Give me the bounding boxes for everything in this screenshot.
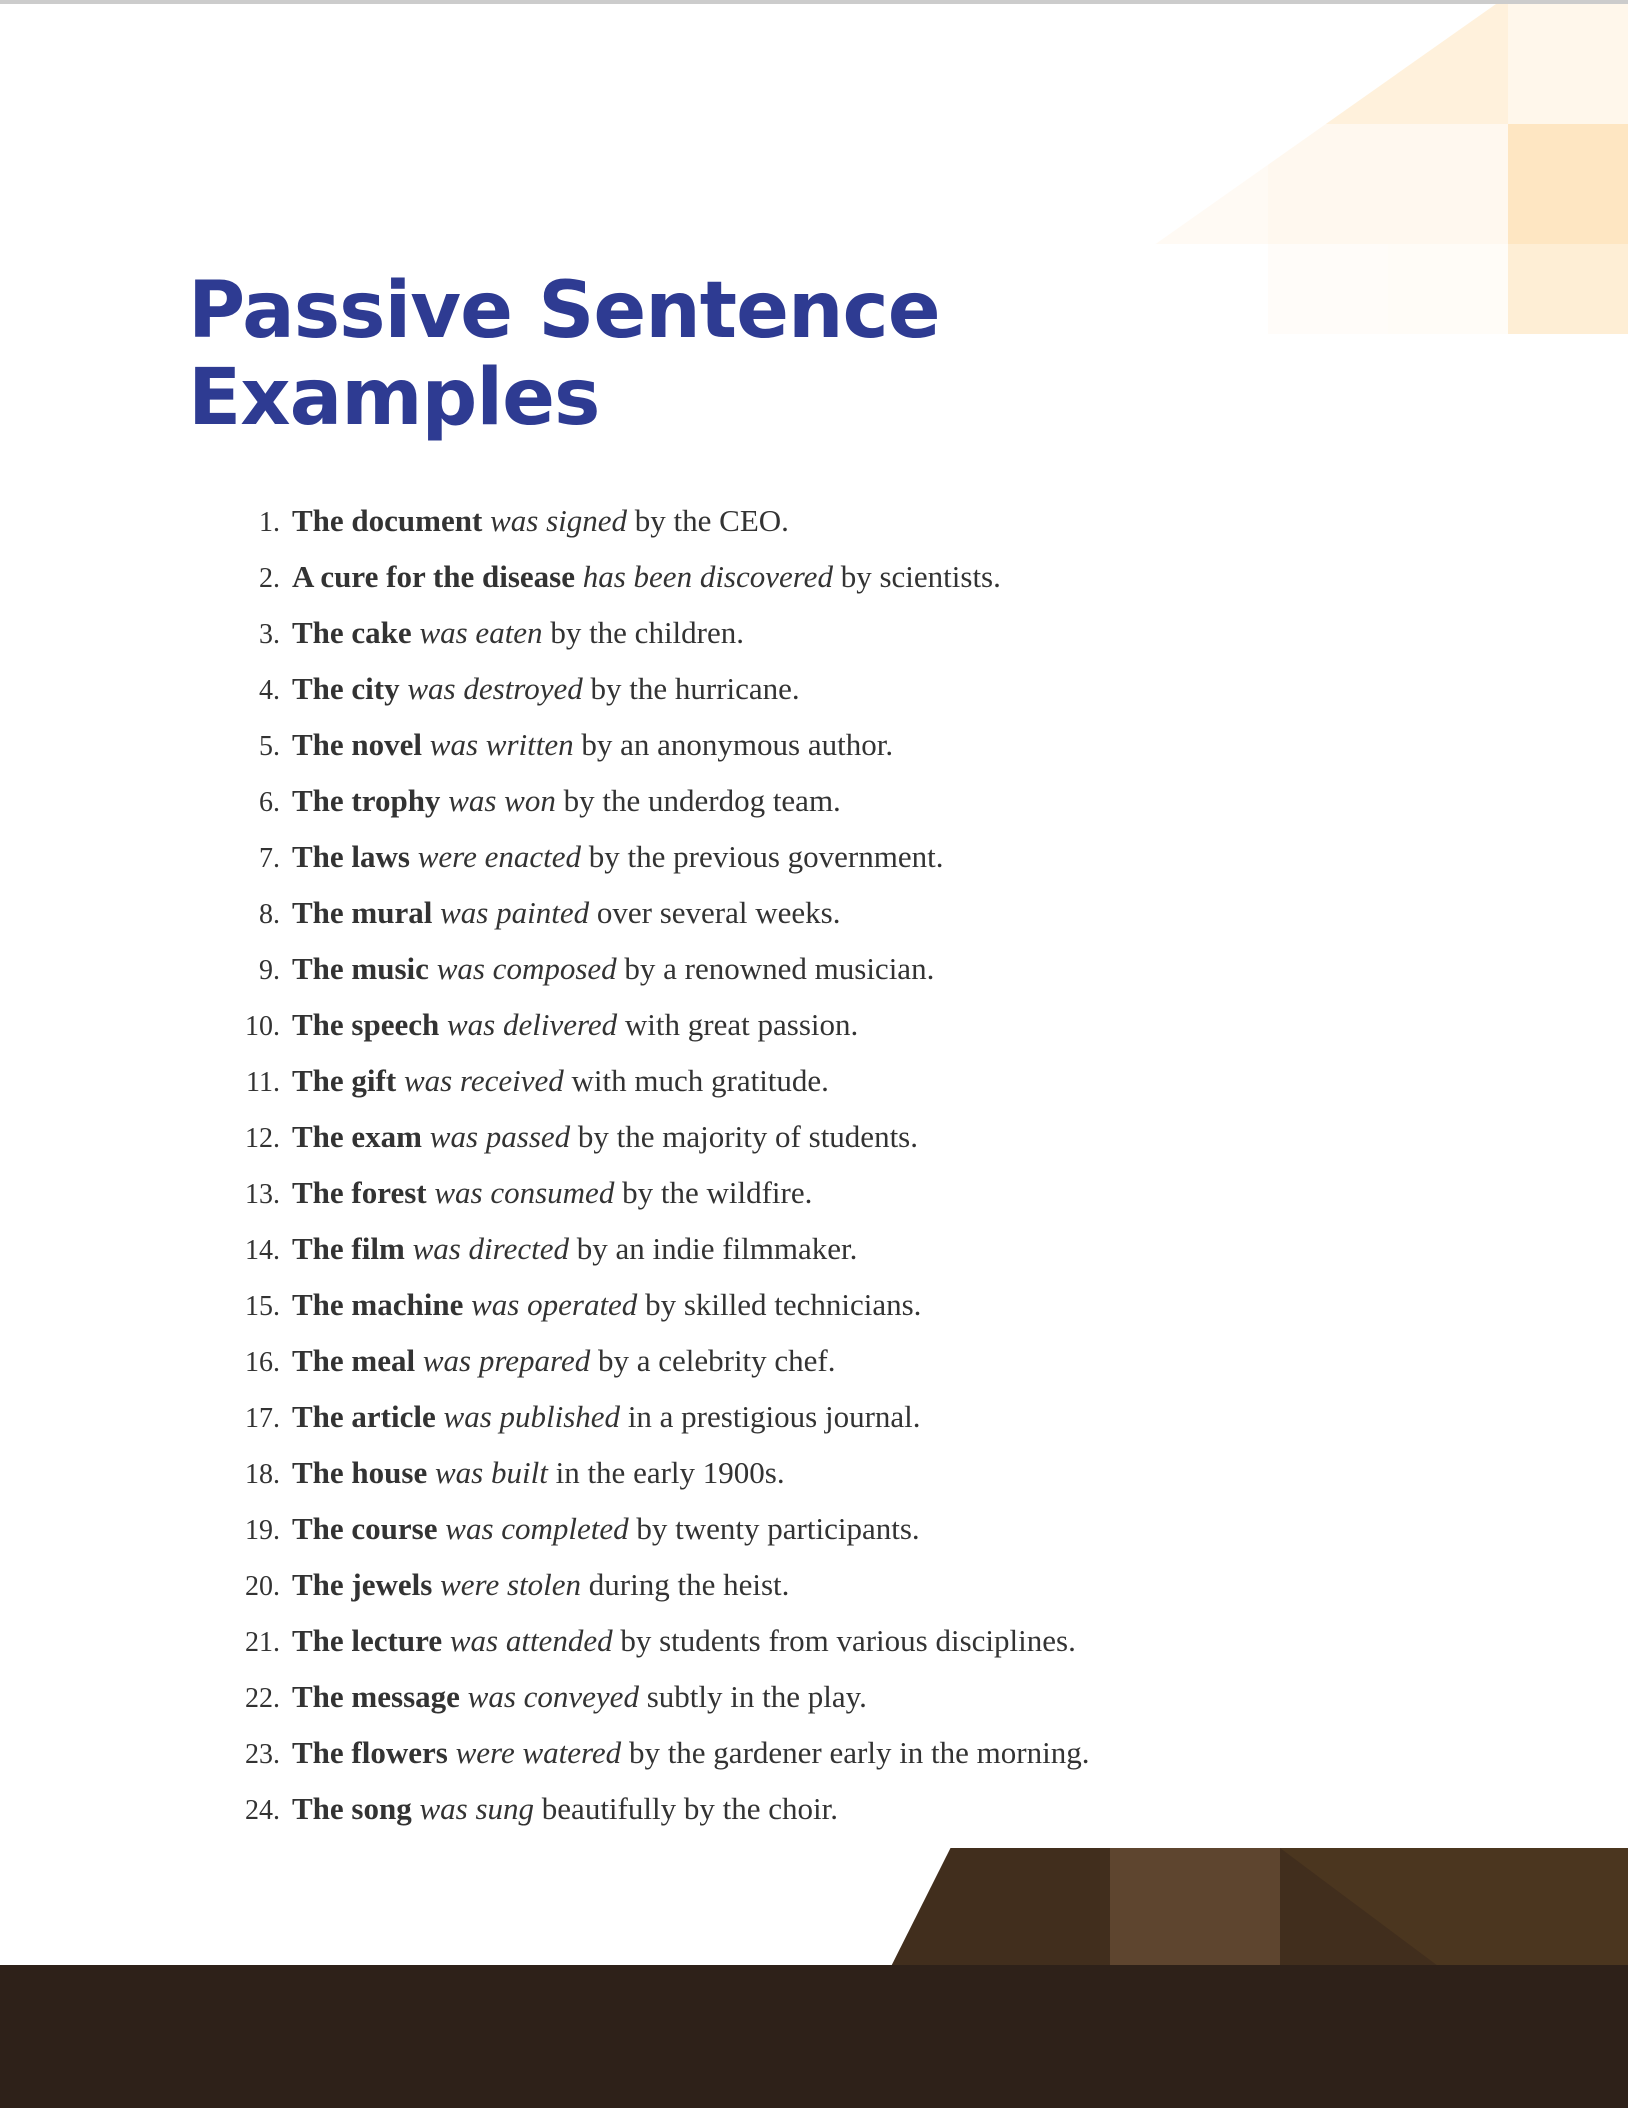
sentence-subject: The novel — [292, 727, 422, 762]
sentence-subject: The mural — [292, 895, 432, 930]
sentence-subject: The gift — [292, 1063, 396, 1098]
peach-decoration-cell — [1388, 4, 1508, 124]
sentence-verb-phrase: was painted — [440, 895, 589, 930]
sentence-verb-phrase: was received — [404, 1063, 564, 1098]
list-item-number: 8. — [228, 888, 280, 942]
sentence-subject: The film — [292, 1231, 405, 1266]
list-item-number: 12. — [228, 1112, 280, 1166]
list-item: 3.The cake was eaten by the children. — [228, 606, 1488, 662]
sentence-remainder: by the underdog team. — [564, 783, 841, 818]
list-item-sentence: The cake was eaten by the children. — [292, 606, 744, 660]
sentence-verb-phrase: was composed — [437, 951, 617, 986]
list-item-sentence: The forest was consumed by the wildfire. — [292, 1166, 812, 1220]
list-item-number: 5. — [228, 720, 280, 774]
sentence-verb-phrase: was delivered — [447, 1007, 617, 1042]
list-item: 21.The lecture was attended by students … — [228, 1614, 1488, 1670]
sentence-remainder: subtly in the play. — [647, 1679, 867, 1714]
peach-decoration-cell — [1028, 124, 1148, 244]
list-item: 14.The film was directed by an indie fil… — [228, 1222, 1488, 1278]
sentence-remainder: by skilled technicians. — [645, 1287, 921, 1322]
list-item-sentence: The city was destroyed by the hurricane. — [292, 662, 800, 716]
sentence-verb-phrase: was conveyed — [468, 1679, 639, 1714]
list-item-number: 21. — [228, 1616, 280, 1670]
list-item: 15.The machine was operated by skilled t… — [228, 1278, 1488, 1334]
list-item: 16.The meal was prepared by a celebrity … — [228, 1334, 1488, 1390]
sentence-remainder: by the hurricane. — [590, 671, 799, 706]
list-item: 1.The document was signed by the CEO. — [228, 494, 1488, 550]
passive-sentence-list: 1.The document was signed by the CEO.2.A… — [228, 494, 1488, 1838]
sentence-verb-phrase: has been discovered — [583, 559, 833, 594]
peach-decoration-cell — [1508, 244, 1628, 364]
sentence-verb-phrase: was attended — [450, 1623, 613, 1658]
list-item: 23.The flowers were watered by the garde… — [228, 1726, 1488, 1782]
sentence-subject: The course — [292, 1511, 438, 1546]
document-page: Passive Sentence Examples 1.The document… — [0, 0, 1628, 2108]
sentence-subject: The trophy — [292, 783, 440, 818]
sentence-verb-phrase: was signed — [490, 503, 627, 538]
list-item-number: 23. — [228, 1728, 280, 1782]
list-item-number: 3. — [228, 608, 280, 662]
list-item-sentence: The song was sung beautifully by the cho… — [292, 1782, 838, 1836]
sentence-subject: The article — [292, 1399, 436, 1434]
sentence-verb-phrase: were enacted — [418, 839, 581, 874]
list-item-number: 18. — [228, 1448, 280, 1502]
list-item: 9.The music was composed by a renowned m… — [228, 942, 1488, 998]
list-item-number: 1. — [228, 496, 280, 550]
list-item-sentence: The meal was prepared by a celebrity che… — [292, 1334, 836, 1388]
sentence-subject: The meal — [292, 1343, 415, 1378]
list-item: 13.The forest was consumed by the wildfi… — [228, 1166, 1488, 1222]
list-item-number: 6. — [228, 776, 280, 830]
peach-decoration-cell — [1388, 124, 1508, 244]
list-item-sentence: The laws were enacted by the previous go… — [292, 830, 943, 884]
sentence-subject: The song — [292, 1791, 412, 1826]
list-item: 6.The trophy was won by the underdog tea… — [228, 774, 1488, 830]
peach-decoration-cell — [1268, 4, 1388, 124]
list-item: 5.The novel was written by an anonymous … — [228, 718, 1488, 774]
sentence-verb-phrase: was consumed — [434, 1175, 614, 1210]
list-item-sentence: The message was conveyed subtly in the p… — [292, 1670, 867, 1724]
list-item-number: 7. — [228, 832, 280, 886]
list-item-sentence: The machine was operated by skilled tech… — [292, 1278, 921, 1332]
list-item-number: 4. — [228, 664, 280, 718]
sentence-subject: The document — [292, 503, 482, 538]
sentence-verb-phrase: was written — [430, 727, 574, 762]
list-item-sentence: The exam was passed by the majority of s… — [292, 1110, 918, 1164]
list-item: 19.The course was completed by twenty pa… — [228, 1502, 1488, 1558]
list-item-number: 16. — [228, 1336, 280, 1390]
list-item-number: 14. — [228, 1224, 280, 1278]
sentence-remainder: by a celebrity chef. — [598, 1343, 836, 1378]
peach-decoration-cell — [1268, 244, 1388, 364]
sentence-subject: The laws — [292, 839, 410, 874]
sentence-remainder: by twenty participants. — [636, 1511, 919, 1546]
peach-decoration-cell — [1508, 4, 1628, 124]
list-item-sentence: The film was directed by an indie filmma… — [292, 1222, 857, 1276]
list-item-number: 19. — [228, 1504, 280, 1558]
sentence-verb-phrase: was destroyed — [407, 671, 582, 706]
sentence-remainder: by an indie filmmaker. — [577, 1231, 858, 1266]
sentence-remainder: by the CEO. — [635, 503, 789, 538]
sentence-subject: The speech — [292, 1007, 439, 1042]
list-item: 10.The speech was delivered with great p… — [228, 998, 1488, 1054]
list-item: 18.The house was built in the early 1900… — [228, 1446, 1488, 1502]
sentence-subject: A cure for the disease — [292, 559, 575, 594]
list-item-sentence: The article was published in a prestigio… — [292, 1390, 921, 1444]
sentence-verb-phrase: was won — [448, 783, 556, 818]
list-item-sentence: The course was completed by twenty parti… — [292, 1502, 920, 1556]
sentence-remainder: by the previous government. — [589, 839, 944, 874]
sentence-verb-phrase: was prepared — [423, 1343, 590, 1378]
peach-decoration-cell — [1148, 124, 1268, 244]
list-item-sentence: The novel was written by an anonymous au… — [292, 718, 893, 772]
list-item-sentence: The trophy was won by the underdog team. — [292, 774, 841, 828]
sentence-remainder: in the early 1900s. — [556, 1455, 785, 1490]
sentence-verb-phrase: was sung — [419, 1791, 534, 1826]
peach-decoration-cell — [1508, 124, 1628, 244]
list-item-number: 13. — [228, 1168, 280, 1222]
peach-decoration-cell — [1028, 4, 1148, 124]
list-item: 17.The article was published in a presti… — [228, 1390, 1488, 1446]
list-item: 24.The song was sung beautifully by the … — [228, 1782, 1488, 1838]
sentence-verb-phrase: was eaten — [419, 615, 542, 650]
sentence-subject: The jewels — [292, 1567, 432, 1602]
sentence-verb-phrase: was operated — [471, 1287, 637, 1322]
sentence-subject: The machine — [292, 1287, 463, 1322]
list-item-sentence: The music was composed by a renowned mus… — [292, 942, 934, 996]
list-item-number: 9. — [228, 944, 280, 998]
sentence-verb-phrase: was completed — [445, 1511, 628, 1546]
list-item-sentence: The speech was delivered with great pass… — [292, 998, 858, 1052]
sentence-verb-phrase: was built — [435, 1455, 548, 1490]
sentence-verb-phrase: was published — [444, 1399, 621, 1434]
list-item-number: 10. — [228, 1000, 280, 1054]
list-item-sentence: The jewels were stolen during the heist. — [292, 1558, 789, 1612]
sentence-subject: The city — [292, 671, 400, 706]
sentence-remainder: in a prestigious journal. — [628, 1399, 921, 1434]
sentence-remainder: with great passion. — [625, 1007, 858, 1042]
list-item: 12.The exam was passed by the majority o… — [228, 1110, 1488, 1166]
list-item: 2.A cure for the disease has been discov… — [228, 550, 1488, 606]
list-item-number: 24. — [228, 1784, 280, 1838]
sentence-subject: The flowers — [292, 1735, 448, 1770]
list-item-sentence: The gift was received with much gratitud… — [292, 1054, 829, 1108]
sentence-subject: The music — [292, 951, 429, 986]
sentence-remainder: by students from various disciplines. — [620, 1623, 1075, 1658]
list-item-number: 22. — [228, 1672, 280, 1726]
peach-decoration-cell — [1148, 4, 1268, 124]
list-item-number: 17. — [228, 1392, 280, 1446]
list-item-sentence: The flowers were watered by the gardener… — [292, 1726, 1089, 1780]
brown-corner-decoration — [0, 1848, 1628, 2108]
sentence-remainder: over several weeks. — [597, 895, 841, 930]
sentence-verb-phrase: was passed — [430, 1119, 570, 1154]
sentence-subject: The message — [292, 1679, 460, 1714]
sentence-verb-phrase: were stolen — [440, 1567, 581, 1602]
sentence-remainder: by the children. — [550, 615, 744, 650]
peach-decoration-cell — [1388, 244, 1508, 364]
sentence-remainder: by the majority of students. — [578, 1119, 918, 1154]
sentence-remainder: by a renowned musician. — [624, 951, 934, 986]
list-item-sentence: The document was signed by the CEO. — [292, 494, 789, 548]
top-rule-divider — [0, 0, 1628, 4]
sentence-remainder: beautifully by the choir. — [542, 1791, 838, 1826]
sentence-remainder: by scientists. — [841, 559, 1001, 594]
list-item: 7.The laws were enacted by the previous … — [228, 830, 1488, 886]
sentence-subject: The house — [292, 1455, 427, 1490]
sentence-verb-phrase: was directed — [413, 1231, 569, 1266]
page-title: Passive Sentence Examples — [188, 268, 1028, 443]
list-item: 20.The jewels were stolen during the hei… — [228, 1558, 1488, 1614]
peach-corner-decoration — [1028, 4, 1628, 334]
list-item: 4.The city was destroyed by the hurrican… — [228, 662, 1488, 718]
list-item-sentence: A cure for the disease has been discover… — [292, 550, 1001, 604]
sentence-remainder: by the wildfire. — [622, 1175, 812, 1210]
list-item-number: 15. — [228, 1280, 280, 1334]
sentence-remainder: during the heist. — [589, 1567, 790, 1602]
sentence-subject: The cake — [292, 615, 412, 650]
sentence-remainder: by the gardener early in the morning. — [629, 1735, 1090, 1770]
sentence-remainder: by an anonymous author. — [581, 727, 893, 762]
sentence-subject: The lecture — [292, 1623, 442, 1658]
list-item-sentence: The house was built in the early 1900s. — [292, 1446, 785, 1500]
sentence-subject: The exam — [292, 1119, 422, 1154]
sentence-remainder: with much gratitude. — [572, 1063, 829, 1098]
list-item-number: 20. — [228, 1560, 280, 1614]
list-item: 11.The gift was received with much grati… — [228, 1054, 1488, 1110]
list-item: 22.The message was conveyed subtly in th… — [228, 1670, 1488, 1726]
bottom-brown-band — [0, 1965, 1628, 2108]
peach-decoration-cell — [1268, 124, 1388, 244]
list-item-number: 2. — [228, 552, 280, 606]
list-item-number: 11. — [228, 1056, 280, 1110]
list-item-sentence: The mural was painted over several weeks… — [292, 886, 840, 940]
sentence-verb-phrase: were watered — [456, 1735, 622, 1770]
sentence-subject: The forest — [292, 1175, 427, 1210]
list-item-sentence: The lecture was attended by students fro… — [292, 1614, 1076, 1668]
list-item: 8.The mural was painted over several wee… — [228, 886, 1488, 942]
